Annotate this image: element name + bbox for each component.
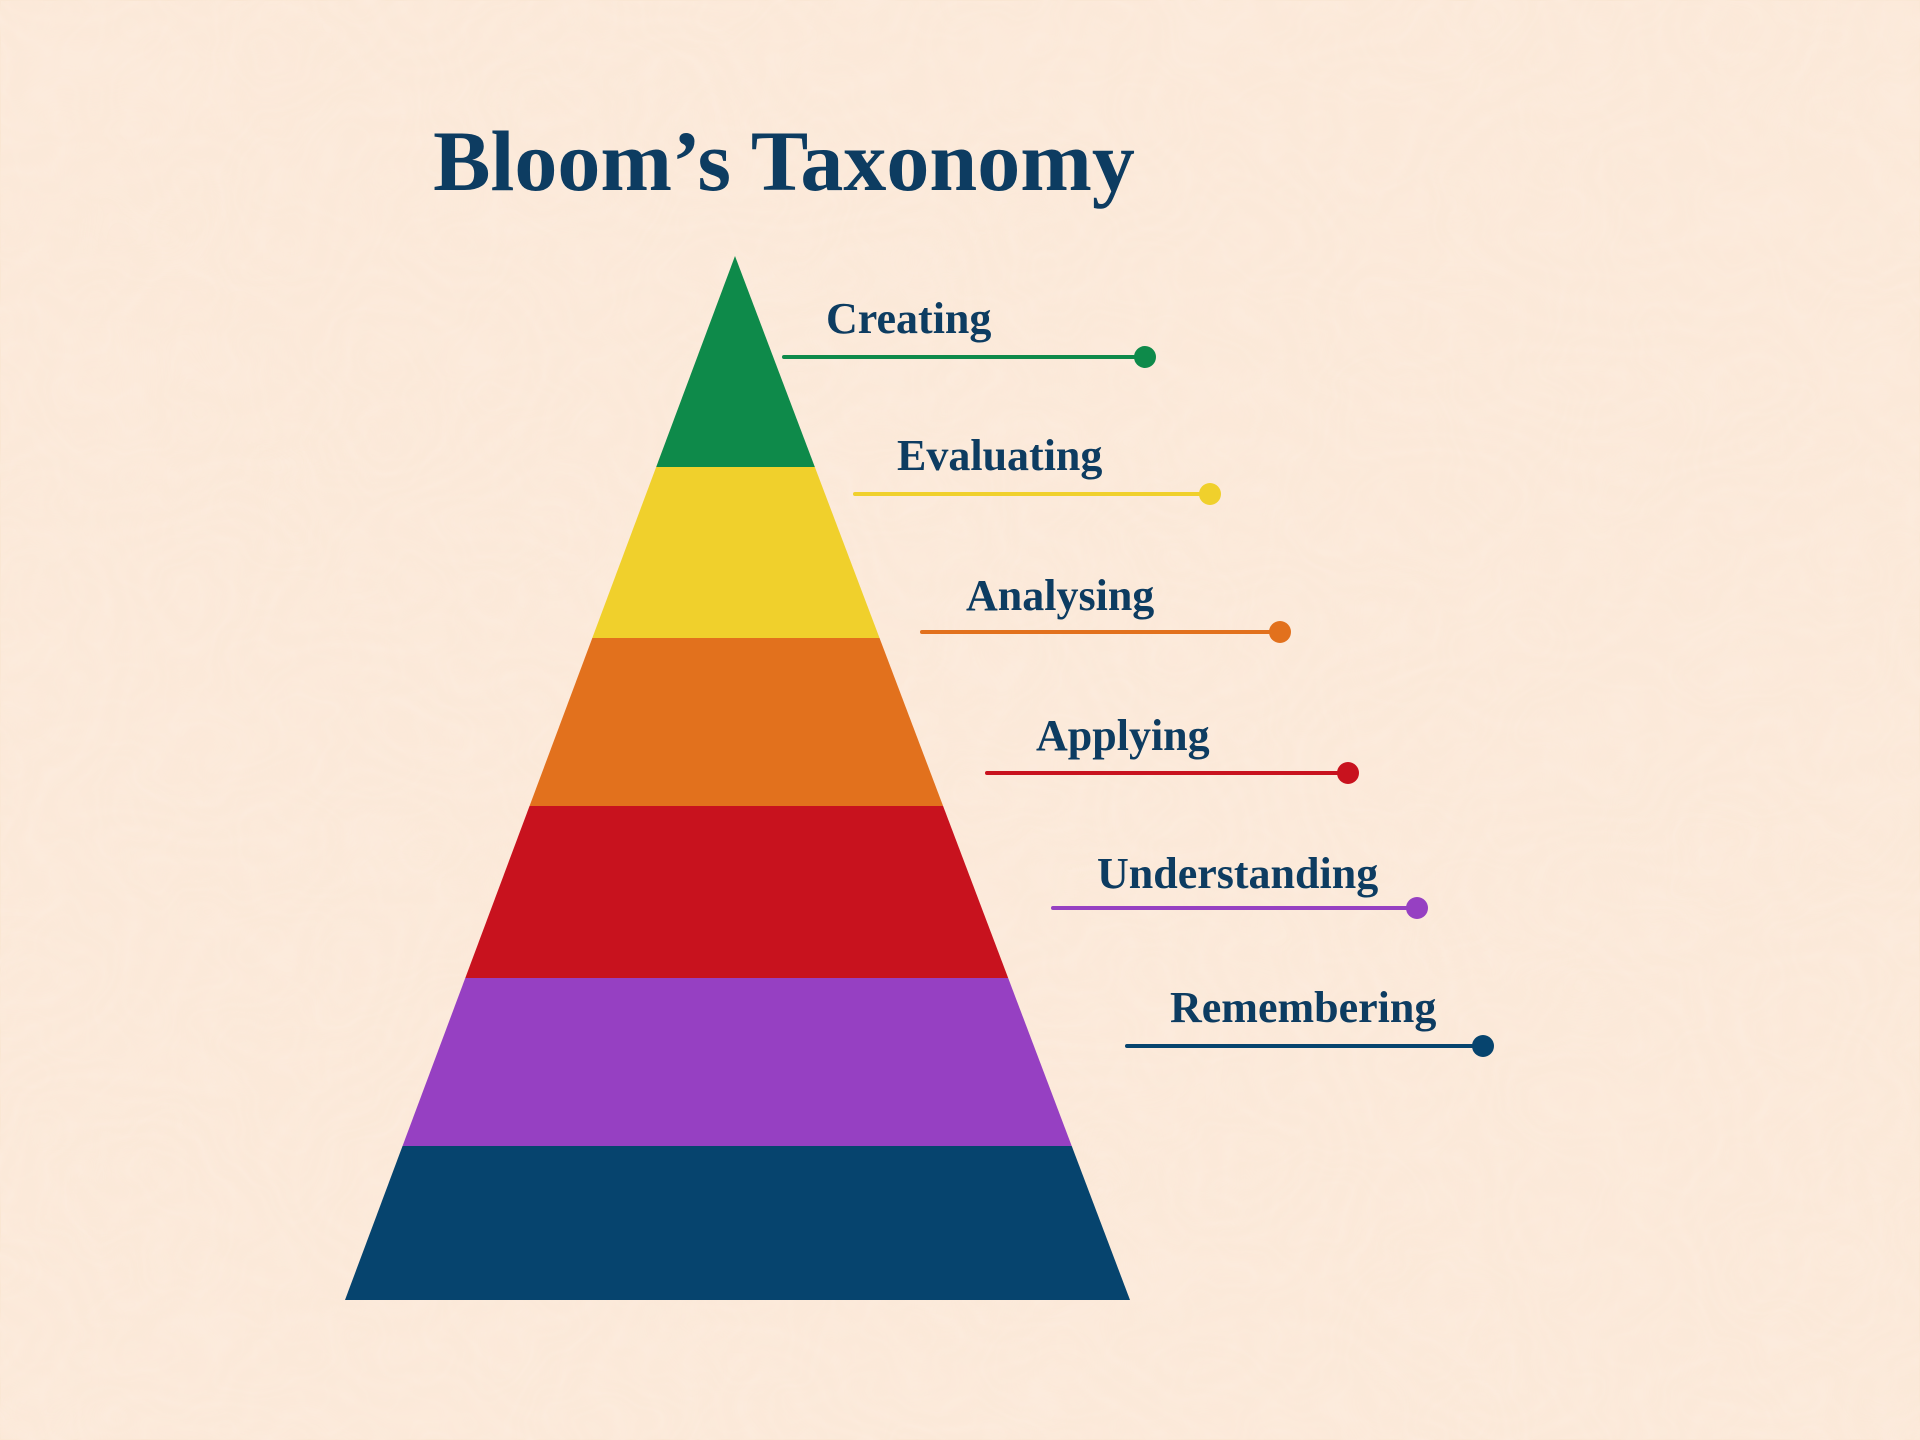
level-label-applying: Applying bbox=[1036, 711, 1210, 760]
page-title: Bloom’s Taxonomy bbox=[433, 113, 1135, 209]
pyramid-band-creating[interactable] bbox=[656, 256, 815, 467]
leader-endpoint-dot-applying[interactable] bbox=[1337, 762, 1359, 784]
poster-canvas: Bloom’s Taxonomy CreatingEvaluatingAnaly… bbox=[0, 0, 1920, 1440]
level-label-understanding: Understanding bbox=[1097, 849, 1378, 898]
leader-endpoint-dot-remembering[interactable] bbox=[1472, 1035, 1494, 1057]
level-label-evaluating: Evaluating bbox=[897, 431, 1102, 480]
leader-endpoint-dot-understanding[interactable] bbox=[1406, 897, 1428, 919]
level-label-creating: Creating bbox=[826, 294, 991, 343]
level-label-analysing: Analysing bbox=[966, 571, 1154, 620]
pyramid-band-analysing[interactable] bbox=[530, 638, 944, 806]
pyramid-shape bbox=[345, 256, 1130, 1300]
blooms-taxonomy-pyramid-diagram: Bloom’s Taxonomy CreatingEvaluatingAnaly… bbox=[0, 0, 1920, 1440]
leader-endpoint-dot-analysing[interactable] bbox=[1269, 621, 1291, 643]
pyramid-band-evaluating[interactable] bbox=[592, 467, 879, 638]
level-label-remembering: Remembering bbox=[1170, 983, 1436, 1032]
leader-endpoint-dot-evaluating[interactable] bbox=[1199, 483, 1221, 505]
pyramid-band-understanding[interactable] bbox=[403, 978, 1072, 1146]
pyramid-band-applying[interactable] bbox=[465, 806, 1008, 978]
leader-endpoint-dot-creating[interactable] bbox=[1134, 346, 1156, 368]
pyramid-band-remembering[interactable] bbox=[345, 1146, 1130, 1300]
